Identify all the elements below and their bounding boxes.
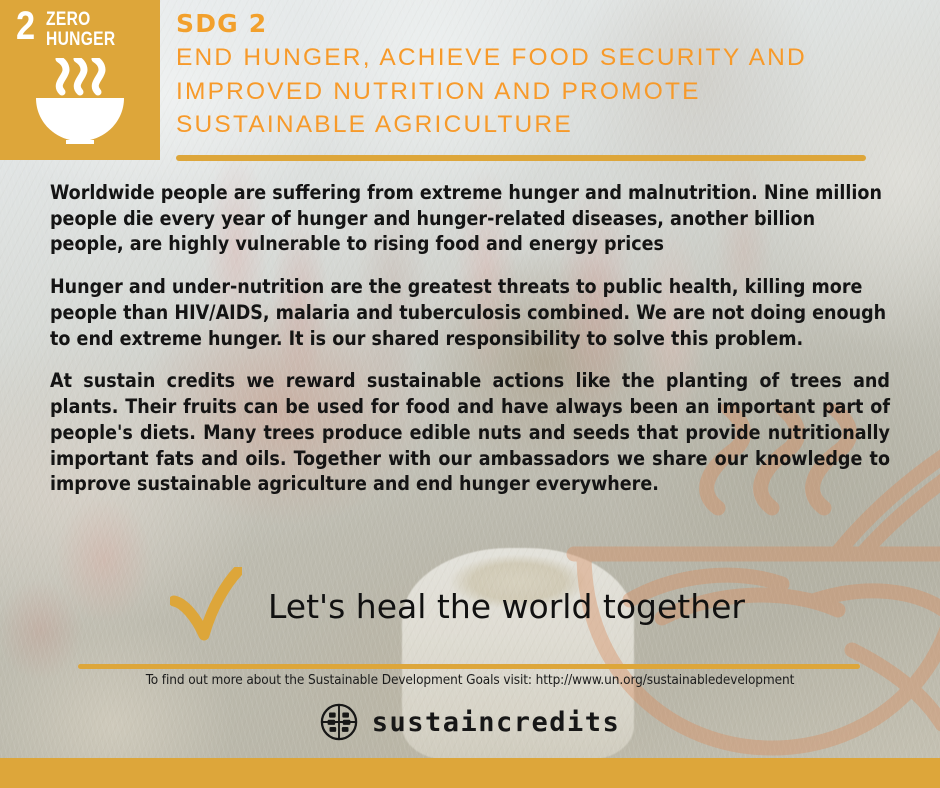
globe-grid-icon [320,703,358,741]
poster-header: 2 ZEROHUNGER SDG 2 END HUNGER, ACHIEVE F… [0,0,940,160]
sdg-goal-badge: 2 ZEROHUNGER [0,0,160,160]
sdg-label: SDG 2 [176,8,876,39]
paragraph-2: Hunger and under-nutrition are the great… [50,274,890,351]
brand-name: sustaincredits [372,707,621,738]
footer-note: To find out more about the Sustainable D… [0,672,940,688]
body-copy: Worldwide people are suffering from extr… [50,180,890,514]
sdg-badge-line1: ZERO [46,9,91,30]
paragraph-3: At sustain credits we reward sustainable… [50,368,890,497]
header-divider [176,155,866,161]
sdg-badge-line2: HUNGER [46,29,115,50]
sdg-badge-number: 2 [16,6,34,46]
slogan-text: Let's heal the world together [268,587,745,626]
footer-divider [78,664,860,669]
sdg2-poster: 2 ZEROHUNGER SDG 2 END HUNGER, ACHIEVE F… [0,0,940,788]
header-text-block: SDG 2 END HUNGER, ACHIEVE FOOD SECURITY … [176,8,876,141]
slogan-row: Let's heal the world together [170,566,870,646]
check-mark-icon [170,567,242,645]
brand-row: sustaincredits [0,698,940,746]
sdg-goal-title: END HUNGER, ACHIEVE FOOD SECURITY AND IM… [176,41,876,141]
paragraph-1: Worldwide people are suffering from extr… [50,180,890,257]
sdg-badge-title: ZEROHUNGER [46,10,115,50]
steaming-bowl-icon [30,58,130,144]
bottom-accent-bar [0,758,940,788]
